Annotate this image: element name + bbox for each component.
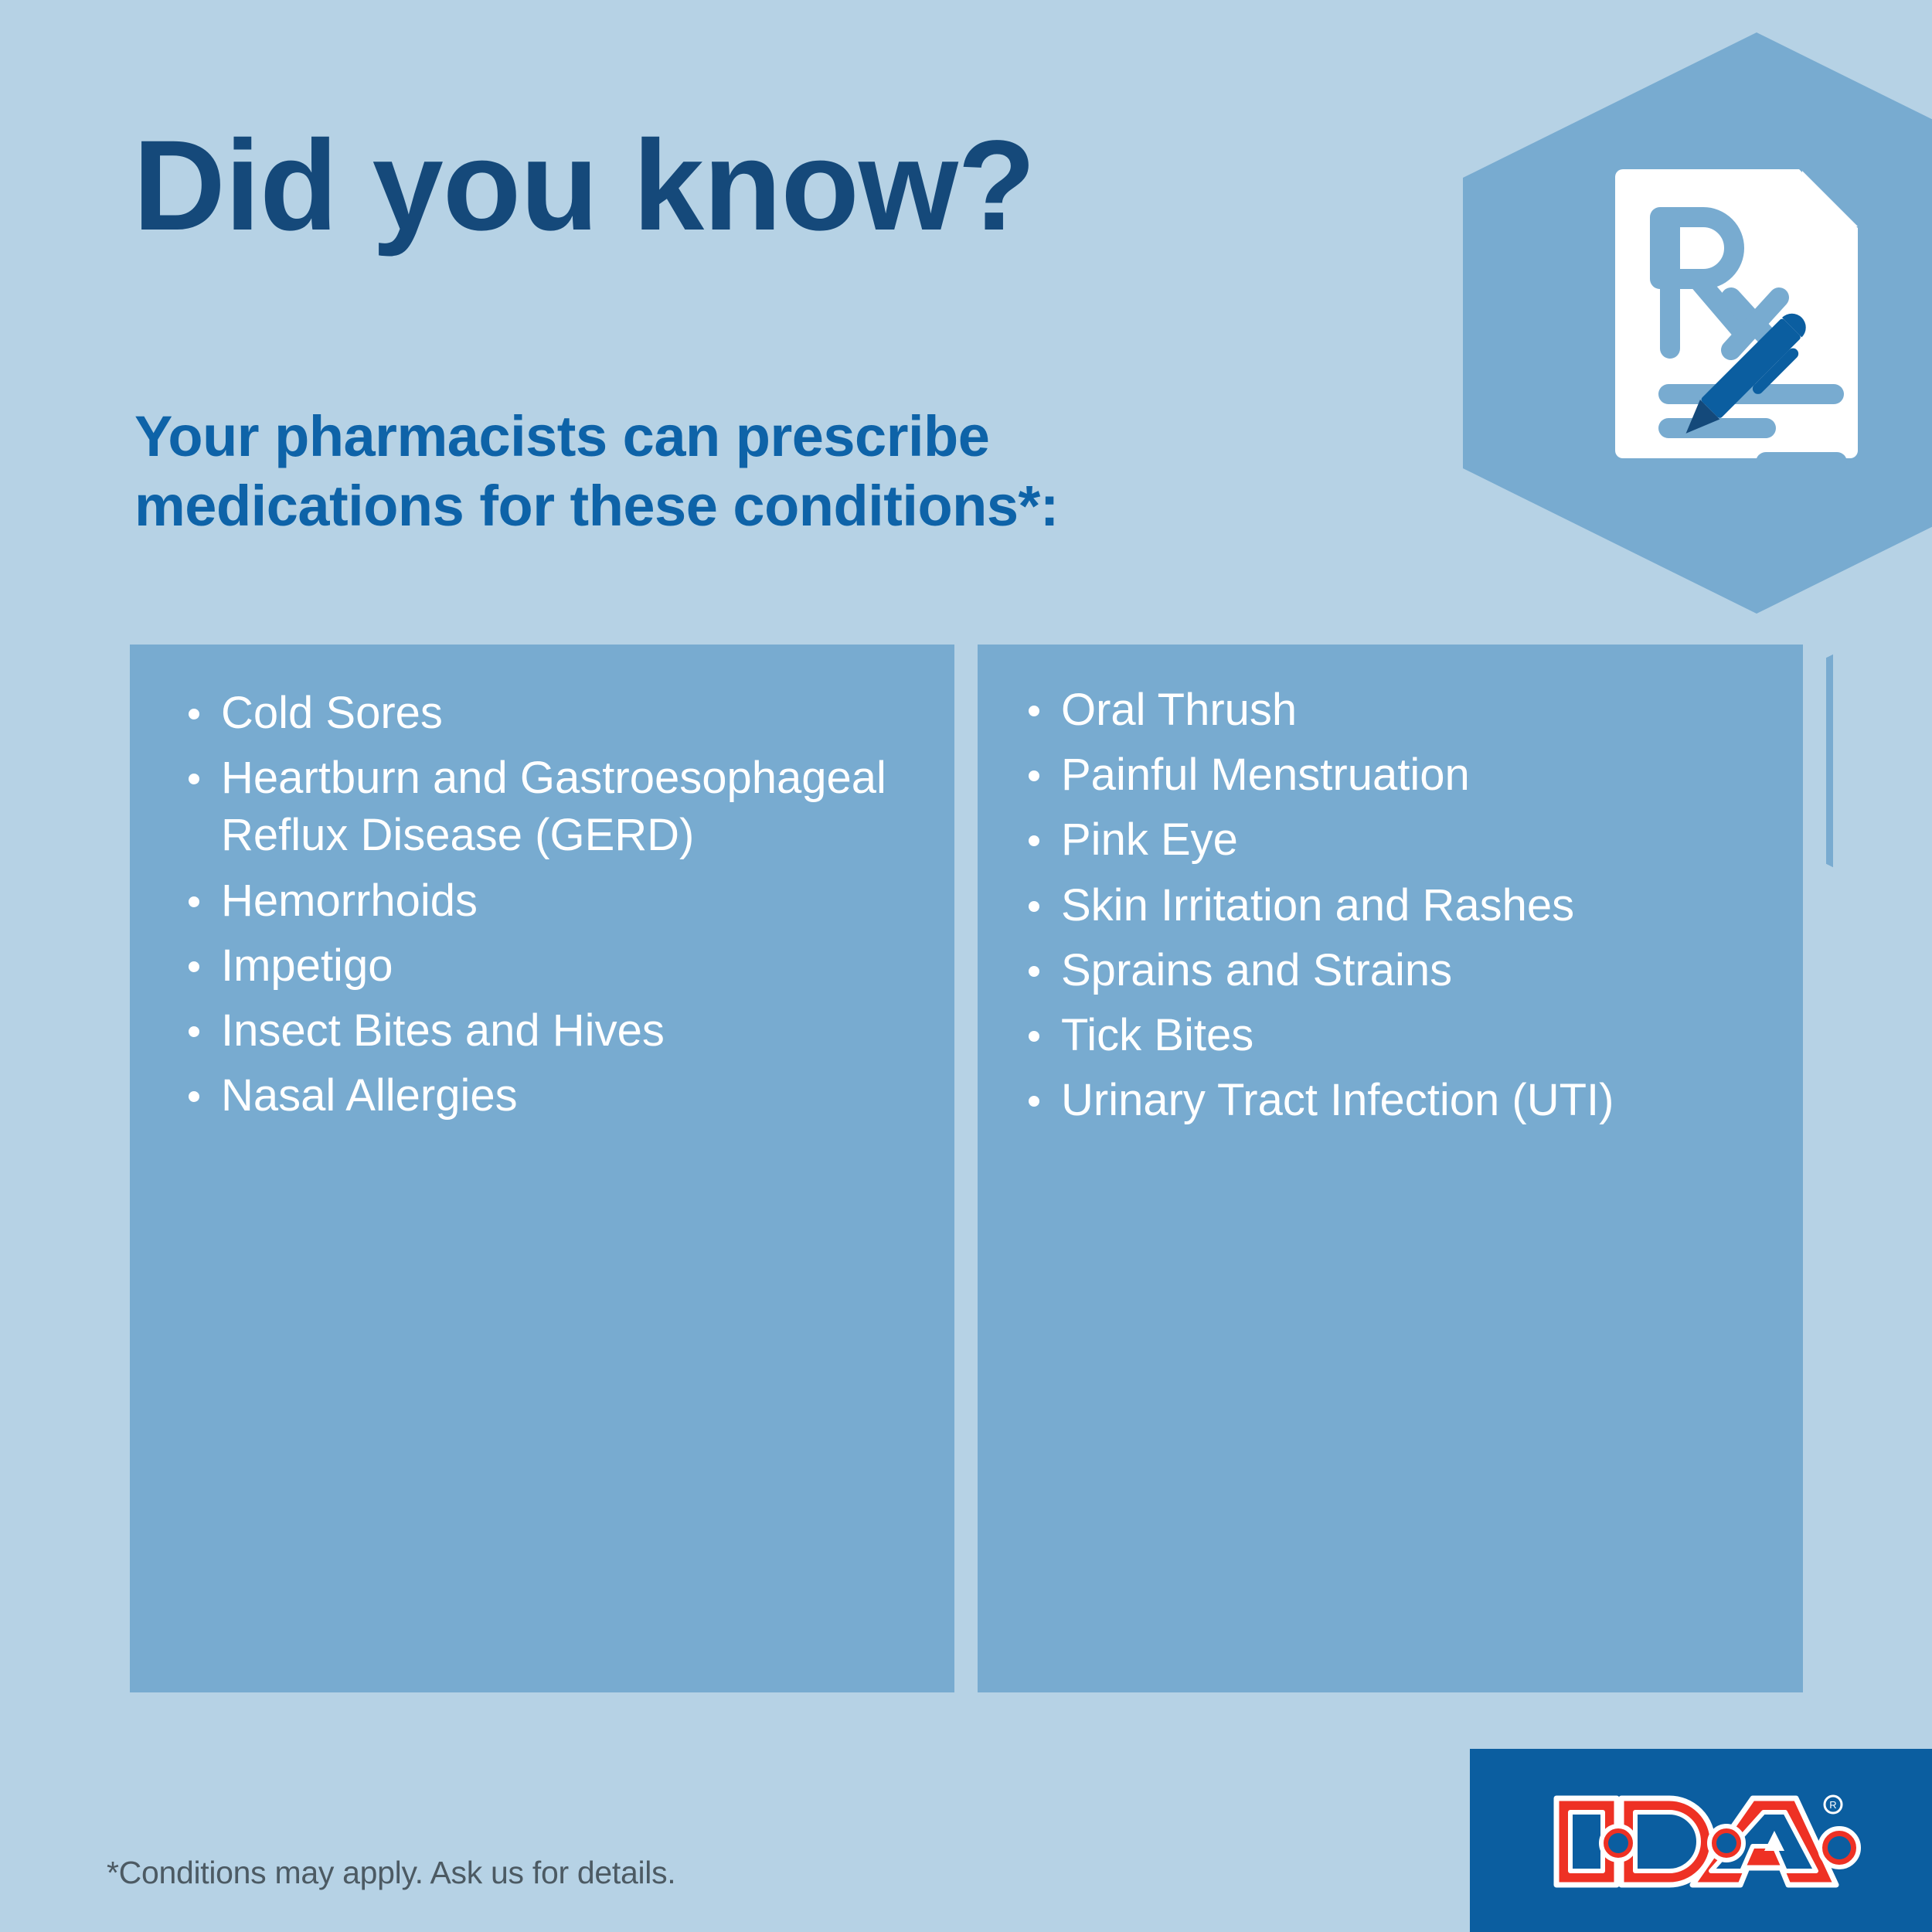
page-subtitle: Your pharmacists can prescribe medicatio… <box>134 402 1059 540</box>
ida-logo-icon: R <box>1550 1787 1875 1896</box>
page-title: Did you know? <box>133 122 1035 250</box>
list-item: Hemorrhoids <box>185 872 923 930</box>
list-item: Pink Eye <box>1026 811 1772 869</box>
list-item: Impetigo <box>185 937 923 995</box>
footnote-text: *Conditions may apply. Ask us for detail… <box>107 1855 675 1891</box>
list-item: Sprains and Strains <box>1026 942 1772 999</box>
poster-canvas: Did you know? Your pharmacists can presc… <box>0 0 1932 1932</box>
list-item: Painful Menstruation <box>1026 747 1772 804</box>
list-item: Oral Thrush <box>1026 682 1772 739</box>
list-item: Insect Bites and Hives <box>185 1002 923 1060</box>
hexagon-outline-icon <box>1826 555 1932 967</box>
list-item: Urinary Tract Infection (UTI) <box>1026 1072 1772 1129</box>
conditions-panel-left: Cold Sores Heartburn and Gastroesophagea… <box>130 645 954 1692</box>
conditions-panel-right: Oral Thrush Painful Menstruation Pink Ey… <box>978 645 1803 1692</box>
list-item: Skin Irritation and Rashes <box>1026 877 1772 934</box>
list-item: Nasal Allergies <box>185 1067 923 1124</box>
svg-text:R: R <box>1829 1799 1836 1811</box>
conditions-list-right: Oral Thrush Painful Menstruation Pink Ey… <box>978 645 1803 1130</box>
prescription-document-pen-icon <box>1607 166 1917 475</box>
conditions-list-left: Cold Sores Heartburn and Gastroesophagea… <box>130 645 954 1125</box>
list-item: Heartburn and Gastroesophageal Reflux Di… <box>185 750 923 864</box>
ida-logo-box: R <box>1470 1749 1932 1932</box>
list-item: Tick Bites <box>1026 1007 1772 1064</box>
list-item: Cold Sores <box>185 685 923 742</box>
